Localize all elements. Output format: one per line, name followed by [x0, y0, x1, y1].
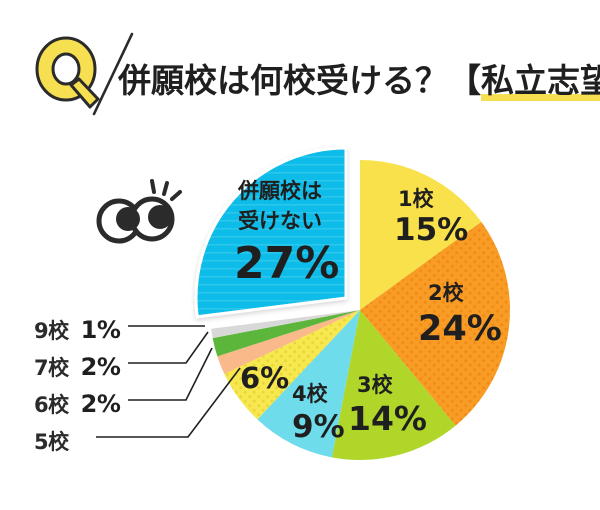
- slice-label-3ko-value: 14%: [348, 399, 427, 438]
- leader-line-5ko: [96, 368, 240, 437]
- page-title-highlight: 私立志望: [481, 58, 600, 104]
- page-title: 併願校は何校受ける？【私立志望】: [118, 58, 588, 110]
- pie-chart: 1校 15% 2校 24% 3校 14% 4校 9% 6% 併願校は 受けない …: [0, 120, 600, 510]
- slice-label-3ko-name: 3校: [357, 373, 394, 397]
- slice-label-5ko-value: 6%: [240, 361, 289, 395]
- slice-label-1ko-value: 15%: [394, 212, 468, 248]
- leader-line-7ko: [128, 332, 208, 363]
- header: 併願校は何校受ける？【私立志望】: [0, 0, 600, 125]
- slice-label-none-line1: 併願校は: [237, 179, 322, 203]
- slice-label-1ko-name: 1校: [398, 187, 435, 211]
- slice-label-2ko-name: 2校: [428, 281, 465, 305]
- slice-label-none-line2: 受けない: [238, 209, 322, 233]
- pie-chart-svg: 1校 15% 2校 24% 3校 14% 4校 9% 6% 併願校は 受けない …: [0, 120, 600, 510]
- page-title-main: 併願校は何校受ける？【: [118, 58, 481, 104]
- slice-label-4ko-value: 9%: [292, 409, 345, 445]
- slice-label-2ko-value: 24%: [418, 309, 502, 349]
- slice-label-none-value: 27%: [234, 238, 339, 289]
- slice-label-4ko-name: 4校: [292, 382, 329, 406]
- leader-line-6ko: [128, 348, 212, 400]
